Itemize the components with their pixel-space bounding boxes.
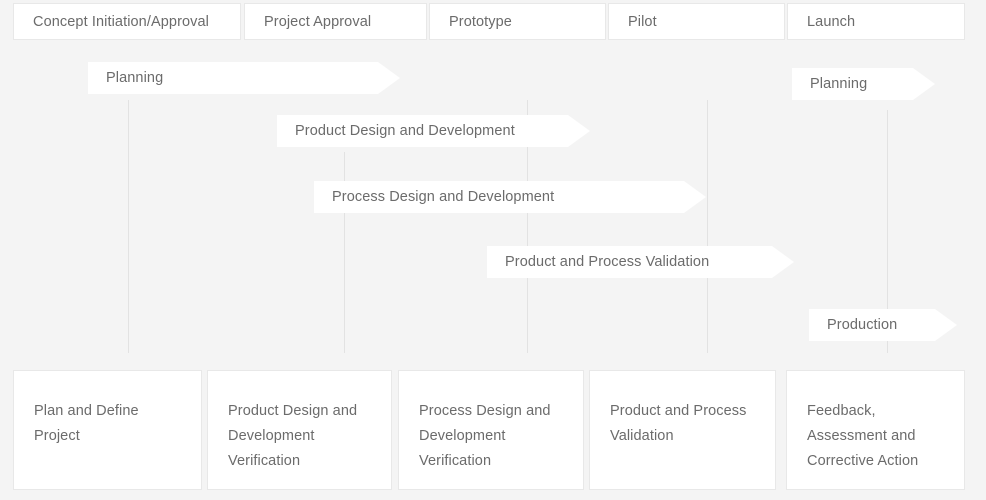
phase-header-box[interactable]: Pilot [608, 3, 785, 40]
phase-separator-line [128, 100, 129, 353]
deliverable-box[interactable]: Product and Process Validation [589, 370, 776, 490]
deliverable-box[interactable]: Process Design and Development Verificat… [398, 370, 584, 490]
phase-header-box[interactable]: Prototype [429, 3, 606, 40]
deliverable-box[interactable]: Plan and Define Project [13, 370, 202, 490]
deliverable-box[interactable]: Product Design and Development Verificat… [207, 370, 392, 490]
activity-chevron[interactable]: Process Design and Development [314, 181, 706, 213]
apqp-diagram: Concept Initiation/ApprovalProject Appro… [0, 0, 986, 500]
activity-chevron[interactable]: Product and Process Validation [487, 246, 794, 278]
deliverable-box[interactable]: Feedback, Assessment and Corrective Acti… [786, 370, 965, 490]
activity-chevron[interactable]: Planning [88, 62, 400, 94]
activity-chevron[interactable]: Planning [792, 68, 935, 100]
phase-header-box[interactable]: Launch [787, 3, 965, 40]
phase-header-box[interactable]: Project Approval [244, 3, 427, 40]
activity-chevron[interactable]: Production [809, 309, 957, 341]
phase-header-box[interactable]: Concept Initiation/Approval [13, 3, 241, 40]
activity-chevron[interactable]: Product Design and Development [277, 115, 590, 147]
phase-separator-line [707, 100, 708, 353]
